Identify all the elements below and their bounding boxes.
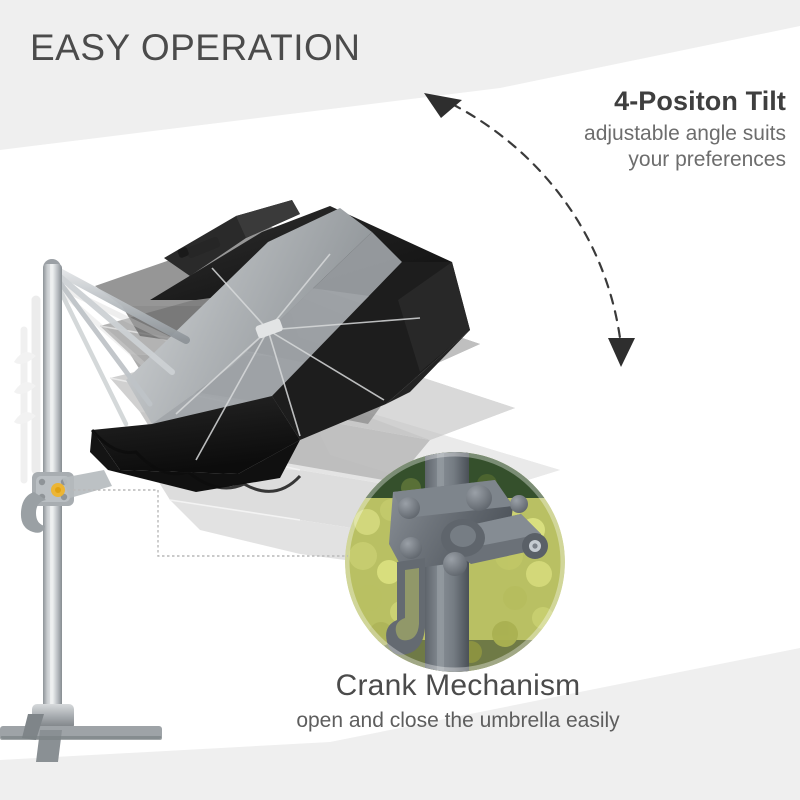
- crank-callout-subtitle: open and close the umbrella easily: [248, 708, 668, 734]
- crank-housing-bolt-1: [39, 479, 45, 485]
- inset-bolt-4: [400, 537, 422, 559]
- crank-handle: [21, 492, 46, 533]
- inset-bolt-5: [443, 552, 467, 576]
- tilt-callout-block: 4-Positon Tilt adjustable angle suits yo…: [456, 86, 786, 173]
- inset-bolt-2: [466, 485, 492, 511]
- crank-housing-bolt-4: [61, 494, 67, 500]
- inset-bolt-3: [510, 495, 528, 513]
- base-arm-shadow: [0, 736, 162, 740]
- crank-callout-block: Crank Mechanism open and close the umbre…: [248, 668, 668, 734]
- umbrella-base: [0, 704, 162, 762]
- product-feature-graphic: EASY OPERATION 4-Positon Tilt adjustable…: [0, 0, 800, 800]
- tilt-callout-subtitle-line2: your preferences: [456, 147, 786, 173]
- inset-crank-hub-cap: [450, 525, 476, 547]
- page-title: EASY OPERATION: [30, 28, 361, 69]
- tilt-callout-subtitle-line1: adjustable angle suits: [456, 121, 786, 147]
- base-arm-diagonal: [36, 730, 62, 762]
- tilt-callout-title: 4-Positon Tilt: [456, 86, 786, 118]
- inset-crank-knob-pin-core: [532, 543, 537, 548]
- inset-bolt-1: [398, 497, 420, 519]
- crank-mechanism-photo-inset: [345, 452, 565, 672]
- crank-callout-title: Crank Mechanism: [248, 668, 668, 704]
